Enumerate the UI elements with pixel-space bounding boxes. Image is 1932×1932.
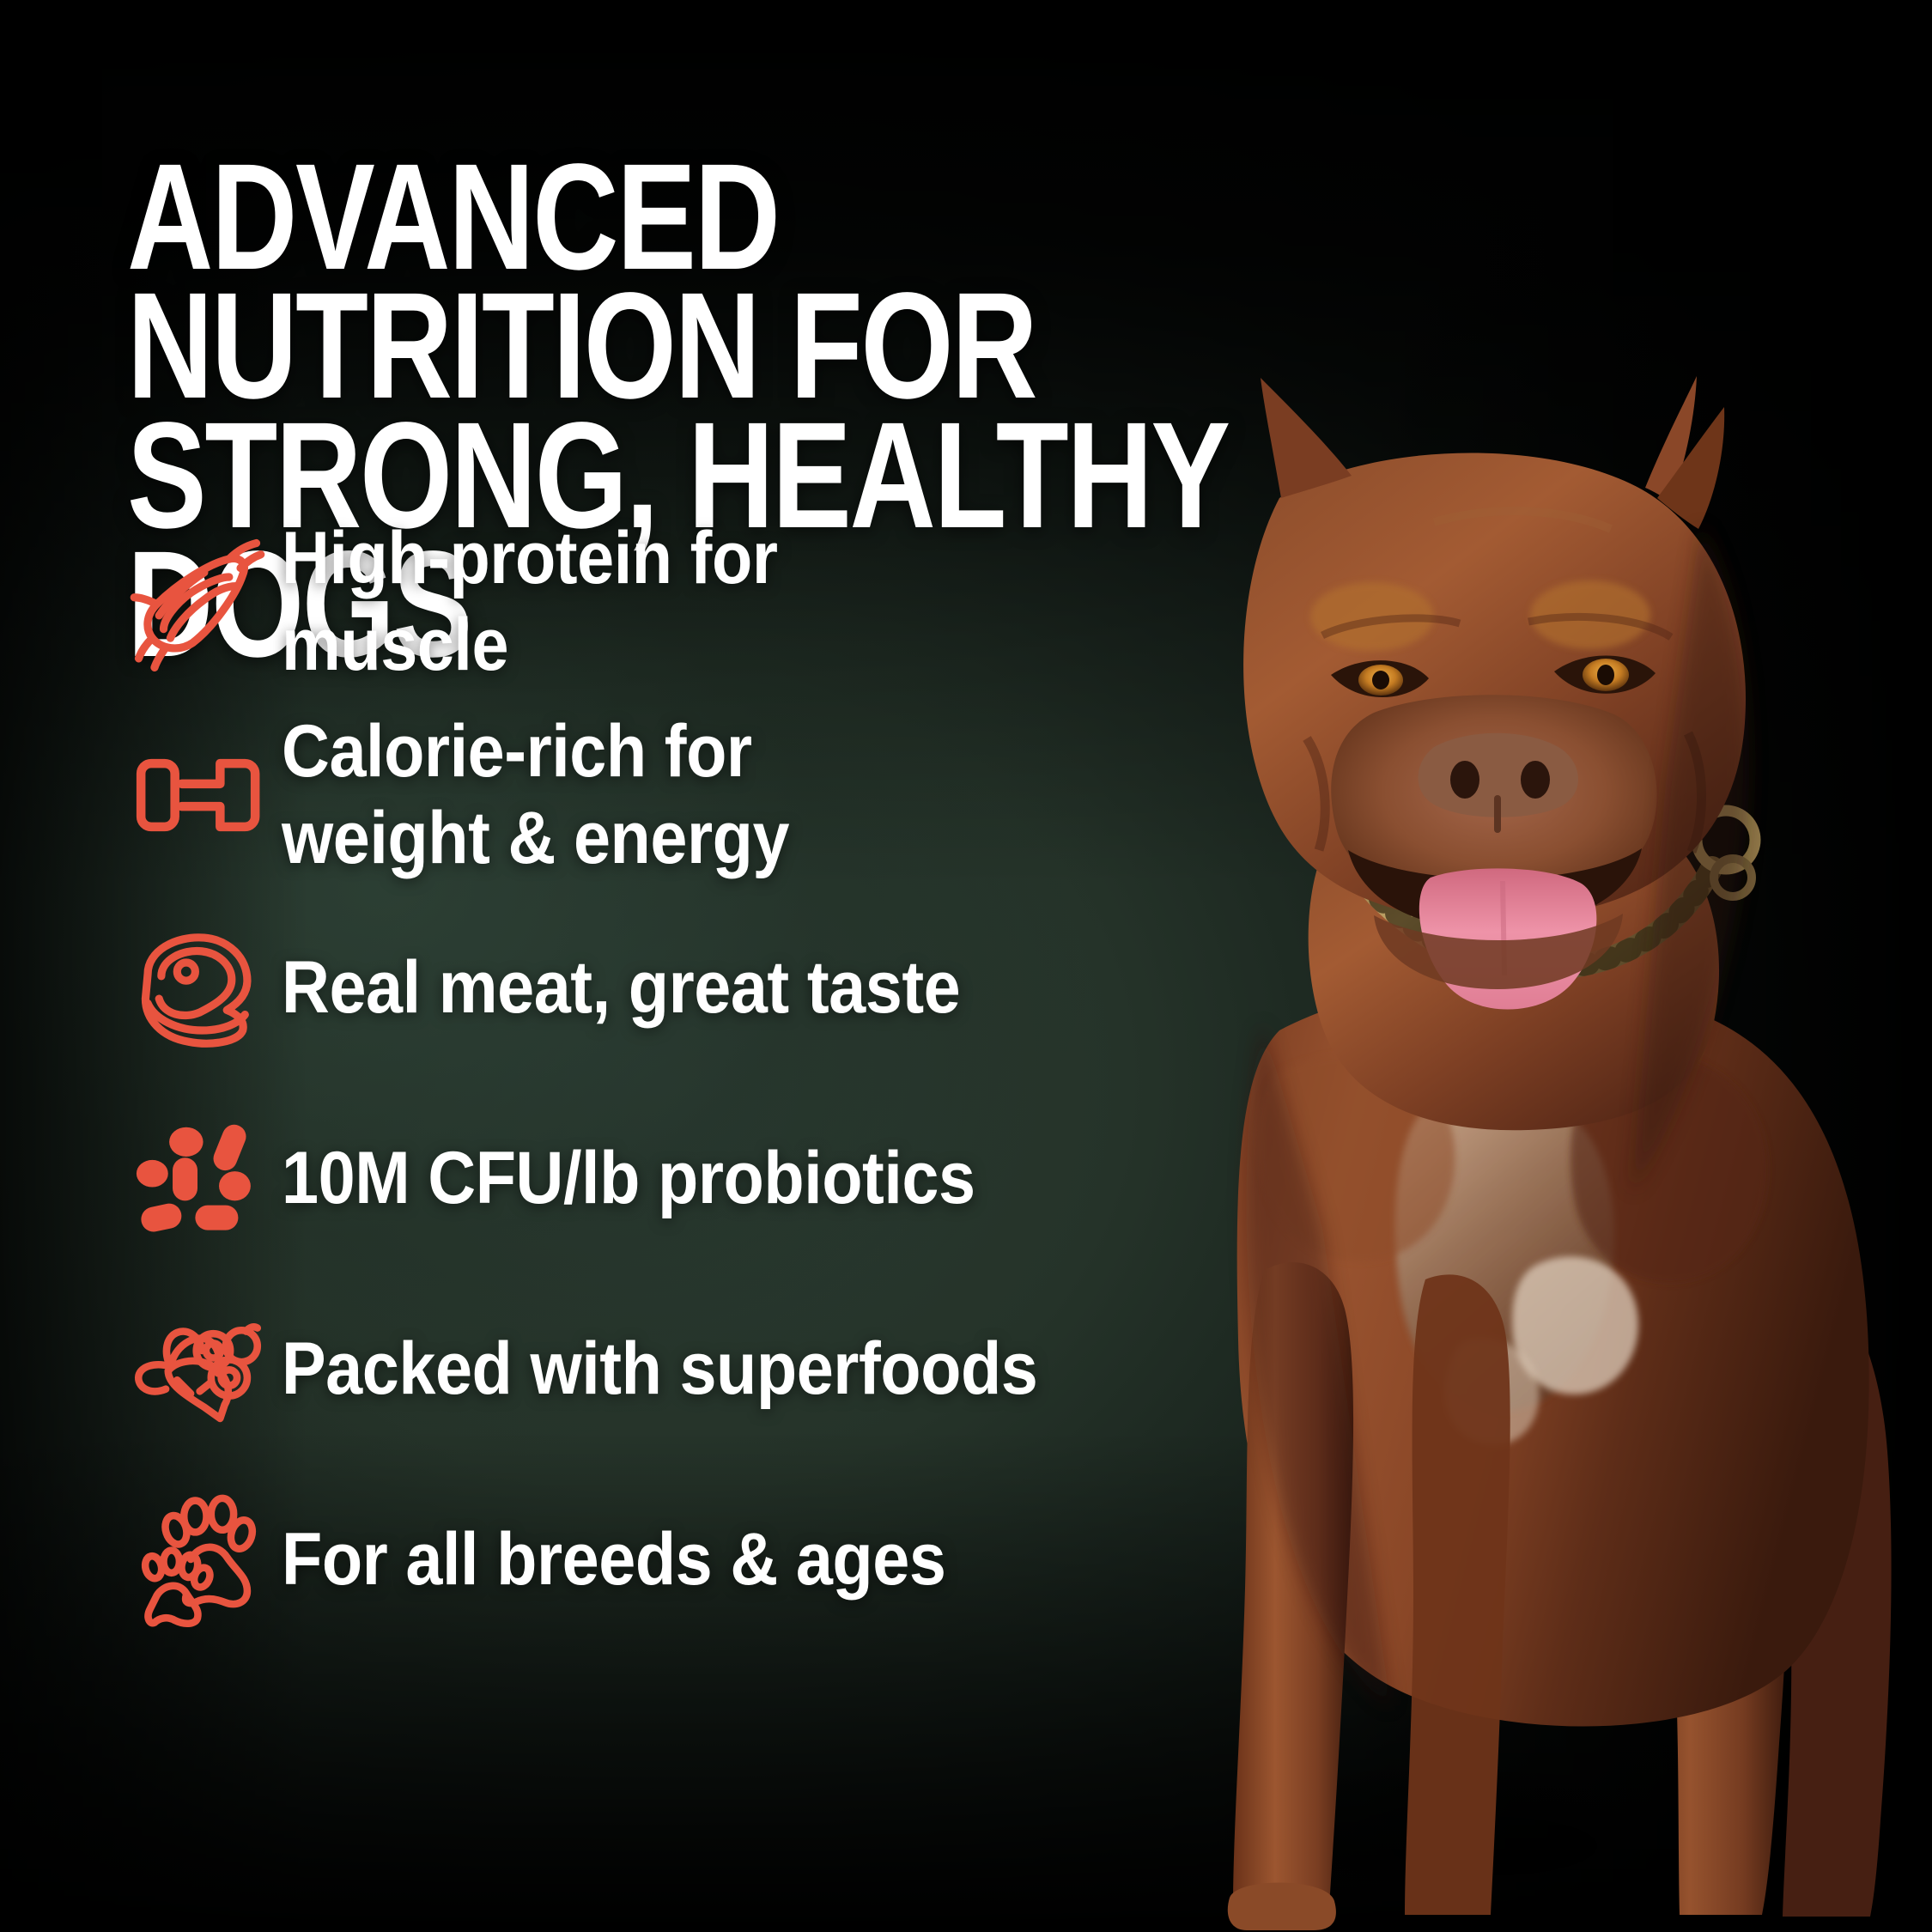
feature-item-calorie-rich: Calorie-rich for weight & energy: [113, 708, 1212, 883]
dog-ground-shadow: [1013, 1709, 1932, 1932]
muscle-fiber-icon: [113, 529, 282, 675]
feature-item-superfoods: Packed with superfoods: [113, 1283, 1212, 1455]
paw-prints-icon: [113, 1486, 282, 1632]
feature-label: For all breeds & ages: [282, 1518, 1120, 1601]
steak-icon: [113, 914, 282, 1060]
probiotics-bacteria-icon: [113, 1105, 282, 1251]
feature-list: High-protein for muscle Calorie-rich for…: [113, 515, 1212, 1645]
dumbbell-icon: [113, 722, 282, 868]
feature-item-probiotics: 10M CFU/lb probiotics: [113, 1092, 1212, 1264]
feature-item-high-protein: High-protein for muscle: [113, 515, 1212, 690]
feature-label: Real meat, great taste: [282, 946, 1120, 1029]
feature-label: 10M CFU/lb probiotics: [282, 1137, 1120, 1219]
feature-label: Packed with superfoods: [282, 1327, 1120, 1410]
feature-label: High-protein for muscle: [282, 515, 1120, 690]
feature-label: Calorie-rich for weight & energy: [282, 708, 1120, 883]
carrot-berries-icon: [113, 1296, 282, 1442]
feature-item-real-meat: Real meat, great taste: [113, 902, 1212, 1073]
promo-canvas: ADVANCED NUTRITION FOR STRONG, HEALTHY D…: [0, 0, 1932, 1932]
feature-item-all-breeds: For all breeds & ages: [113, 1473, 1212, 1645]
